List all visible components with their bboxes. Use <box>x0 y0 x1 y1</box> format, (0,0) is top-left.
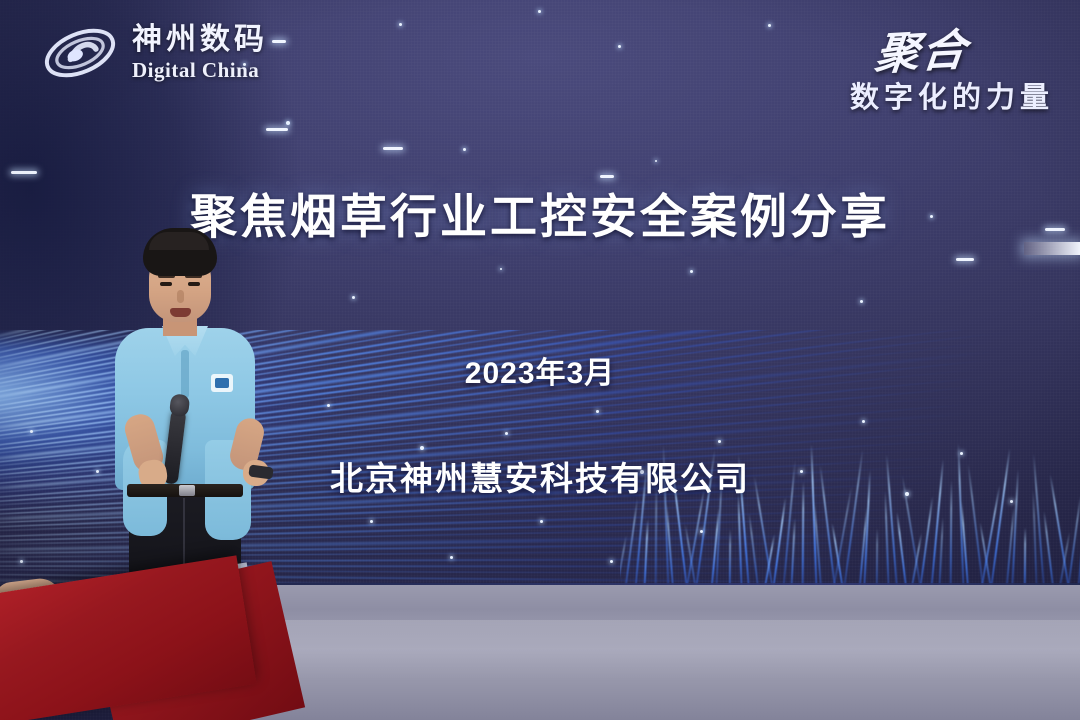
light-particle <box>596 410 599 413</box>
light-particle <box>610 560 613 563</box>
brand-name-en: Digital China <box>132 60 268 81</box>
light-particle <box>860 300 863 303</box>
shirt-placket <box>181 350 189 398</box>
light-particle <box>463 148 466 151</box>
speaker-hair <box>143 228 217 276</box>
light-dash <box>383 147 403 150</box>
light-particle <box>399 23 402 26</box>
light-particle <box>450 556 453 559</box>
light-particle <box>30 430 33 433</box>
light-particle <box>700 530 703 533</box>
event-calligraphy: 聚合 <box>872 14 971 83</box>
foreground-table <box>0 540 270 720</box>
light-dash <box>266 128 288 131</box>
event-mark: 聚合 数字化的力量 <box>850 16 1054 116</box>
light-particle <box>1010 500 1013 503</box>
light-particle <box>370 520 373 523</box>
light-particle <box>505 432 508 435</box>
shirt-logo-icon <box>211 374 233 392</box>
light-particle <box>540 520 543 523</box>
light-particle <box>690 270 693 273</box>
swirl-logo-icon <box>40 22 120 84</box>
stage-photo: 神州数码 Digital China 聚合 数字化的力量 聚焦烟草行业工控安全案… <box>0 0 1080 720</box>
light-dash <box>272 40 286 43</box>
light-dash <box>956 258 974 261</box>
light-particle <box>420 446 424 450</box>
brand-logo: 神州数码 Digital China <box>40 22 268 84</box>
speaker-belt <box>127 484 243 497</box>
light-particle <box>500 268 502 270</box>
light-dash <box>11 171 37 174</box>
light-particle <box>618 45 621 48</box>
light-particle <box>655 160 657 162</box>
light-particle <box>538 10 541 13</box>
light-particle <box>862 420 865 423</box>
light-particle <box>718 440 721 443</box>
light-particle <box>352 296 355 299</box>
light-particle <box>286 121 290 125</box>
light-particle <box>327 404 330 407</box>
stage-floor <box>250 585 1080 720</box>
light-particle <box>768 24 771 27</box>
brand-name-cn: 神州数码 <box>132 25 268 55</box>
